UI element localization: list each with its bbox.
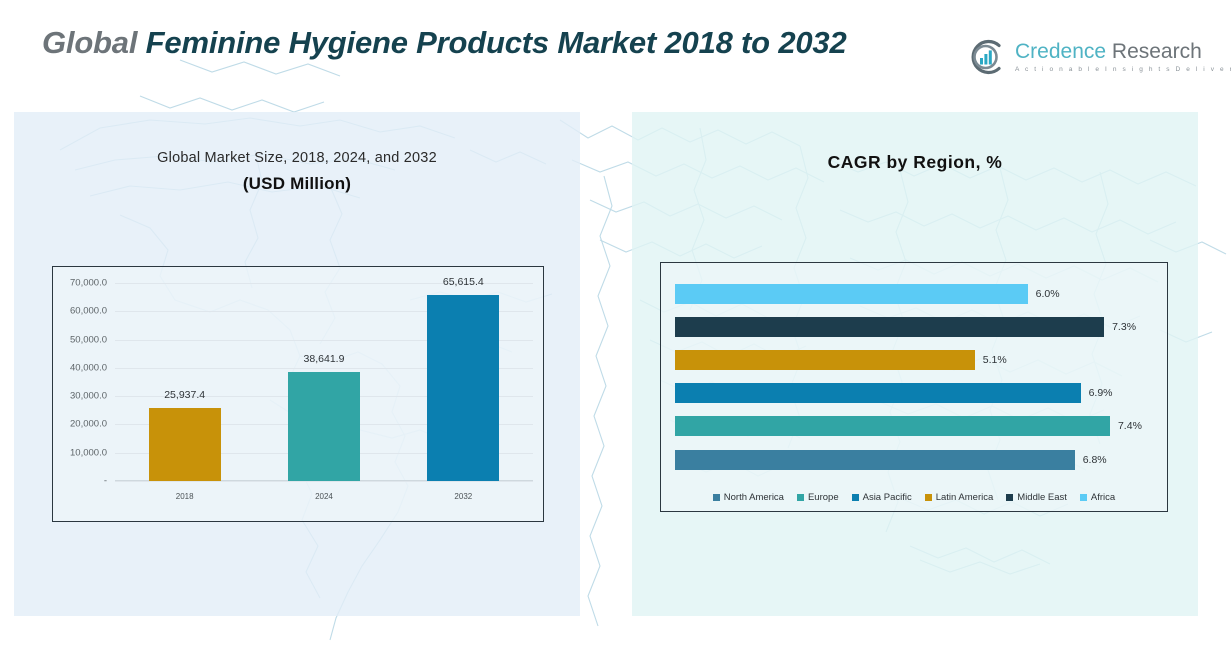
bar-2018[interactable]: 25,937.42018 [149,408,221,481]
cagr-by-region-chart: 6.0%7.3%5.1%6.9%7.4%6.8% North AmericaEu… [660,262,1168,512]
bar-europe[interactable] [675,416,1110,436]
legend-label: Middle East [1017,492,1067,503]
infographic-canvas: Global Feminine Hygiene Products Market … [0,0,1231,646]
logo-text: Credence Research A c t i o n a b l e I … [1015,41,1231,73]
legend-swatch [1006,494,1013,501]
bar-2032[interactable]: 65,615.42032 [427,295,499,481]
cagr-bar-row: 6.9% [675,377,1157,410]
cagr-bar-row: 5.1% [675,343,1157,376]
bar-africa[interactable] [675,284,1028,304]
cagr-bar-row: 7.4% [675,410,1157,443]
bar-value-label: 5.1% [983,354,1007,366]
market-size-chart: 70,000.060,000.050,000.040,000.030,000.0… [52,266,544,522]
legend-item-middle-east[interactable]: Middle East [1006,492,1067,503]
y-axis-tick-label: 10,000.0 [70,447,107,458]
y-axis-tick-label: 60,000.0 [70,306,107,317]
legend-label: North America [724,492,784,503]
bar-value-label: 7.3% [1112,321,1136,333]
y-axis-tick-label: 70,000.0 [70,278,107,289]
legend-label: Latin America [936,492,994,503]
bar-value-label: 7.4% [1118,420,1142,432]
x-axis-tick-label: 2032 [454,492,472,501]
y-axis-tick-label: - [104,476,107,487]
legend-item-asia-pacific[interactable]: Asia Pacific [852,492,912,503]
logo-tagline: A c t i o n a b l e I n s i g h t s D e … [1015,66,1231,73]
y-axis-tick-label: 50,000.0 [70,334,107,345]
page-title: Global Feminine Hygiene Products Market … [42,22,952,65]
legend-label: Europe [808,492,839,503]
brand-logo[interactable]: Credence Research A c t i o n a b l e I … [966,32,1176,82]
left-panel-title-line1: Global Market Size, 2018, 2024, and 2032 [14,150,580,166]
left-panel-title-line2: (USD Million) [14,174,580,194]
bar-value-label: 6.8% [1083,454,1107,466]
page-title-prefix: Global [42,25,146,60]
cagr-plot-area: 6.0%7.3%5.1%6.9%7.4%6.8% [675,277,1157,477]
bar-value-label: 6.9% [1089,387,1113,399]
bar-asia-pacific[interactable] [675,383,1081,403]
y-axis-tick-label: 30,000.0 [70,391,107,402]
legend-swatch [797,494,804,501]
gridline: - [115,481,533,482]
legend-swatch [1080,494,1087,501]
market-size-plot-area: 70,000.060,000.050,000.040,000.030,000.0… [115,283,533,481]
legend-item-latin-america[interactable]: Latin America [925,492,994,503]
legend-item-north-america[interactable]: North America [713,492,784,503]
cagr-bar-row: 7.3% [675,310,1157,343]
bar-value-label: 25,937.4 [164,389,205,401]
legend-label: Asia Pacific [863,492,912,503]
legend-swatch [925,494,932,501]
bar-slot: 38,641.92024 [278,283,370,481]
cagr-bar-row: 6.0% [675,277,1157,310]
right-panel-title-text: CAGR by Region, % [632,152,1198,173]
bar-slot: 65,615.42032 [417,283,509,481]
logo-name-credence: Credence [1015,40,1106,63]
bar-value-label: 65,615.4 [443,276,484,288]
bar-latin-america[interactable] [675,350,975,370]
page-title-main: Feminine Hygiene Products Market 2018 to… [146,25,847,60]
cagr-bar-row: 6.8% [675,443,1157,476]
cagr-legend: North AmericaEuropeAsia PacificLatin Ame… [661,492,1167,503]
header: Global Feminine Hygiene Products Market … [0,0,1231,112]
bar-value-label: 6.0% [1036,288,1060,300]
logo-name: Credence Research [1015,41,1231,63]
right-panel-title: CAGR by Region, % [632,152,1198,173]
bar-middle-east[interactable] [675,317,1104,337]
x-axis-tick-label: 2024 [315,492,333,501]
bar-slot: 25,937.42018 [139,283,231,481]
credence-bar-circle-icon [966,37,1006,77]
legend-swatch [852,494,859,501]
x-axis-tick-label: 2018 [176,492,194,501]
legend-swatch [713,494,720,501]
left-panel-title: Global Market Size, 2018, 2024, and 2032… [14,150,580,194]
bar-2024[interactable]: 38,641.92024 [288,372,360,481]
legend-item-africa[interactable]: Africa [1080,492,1115,503]
legend-item-europe[interactable]: Europe [797,492,839,503]
legend-label: Africa [1091,492,1115,503]
y-axis-tick-label: 40,000.0 [70,362,107,373]
bar-value-label: 38,641.9 [304,353,345,365]
bar-north-america[interactable] [675,450,1075,470]
bar-group: 25,937.4201838,641.9202465,615.42032 [115,283,533,481]
y-axis-tick-label: 20,000.0 [70,419,107,430]
logo-name-research: Research [1106,40,1202,63]
